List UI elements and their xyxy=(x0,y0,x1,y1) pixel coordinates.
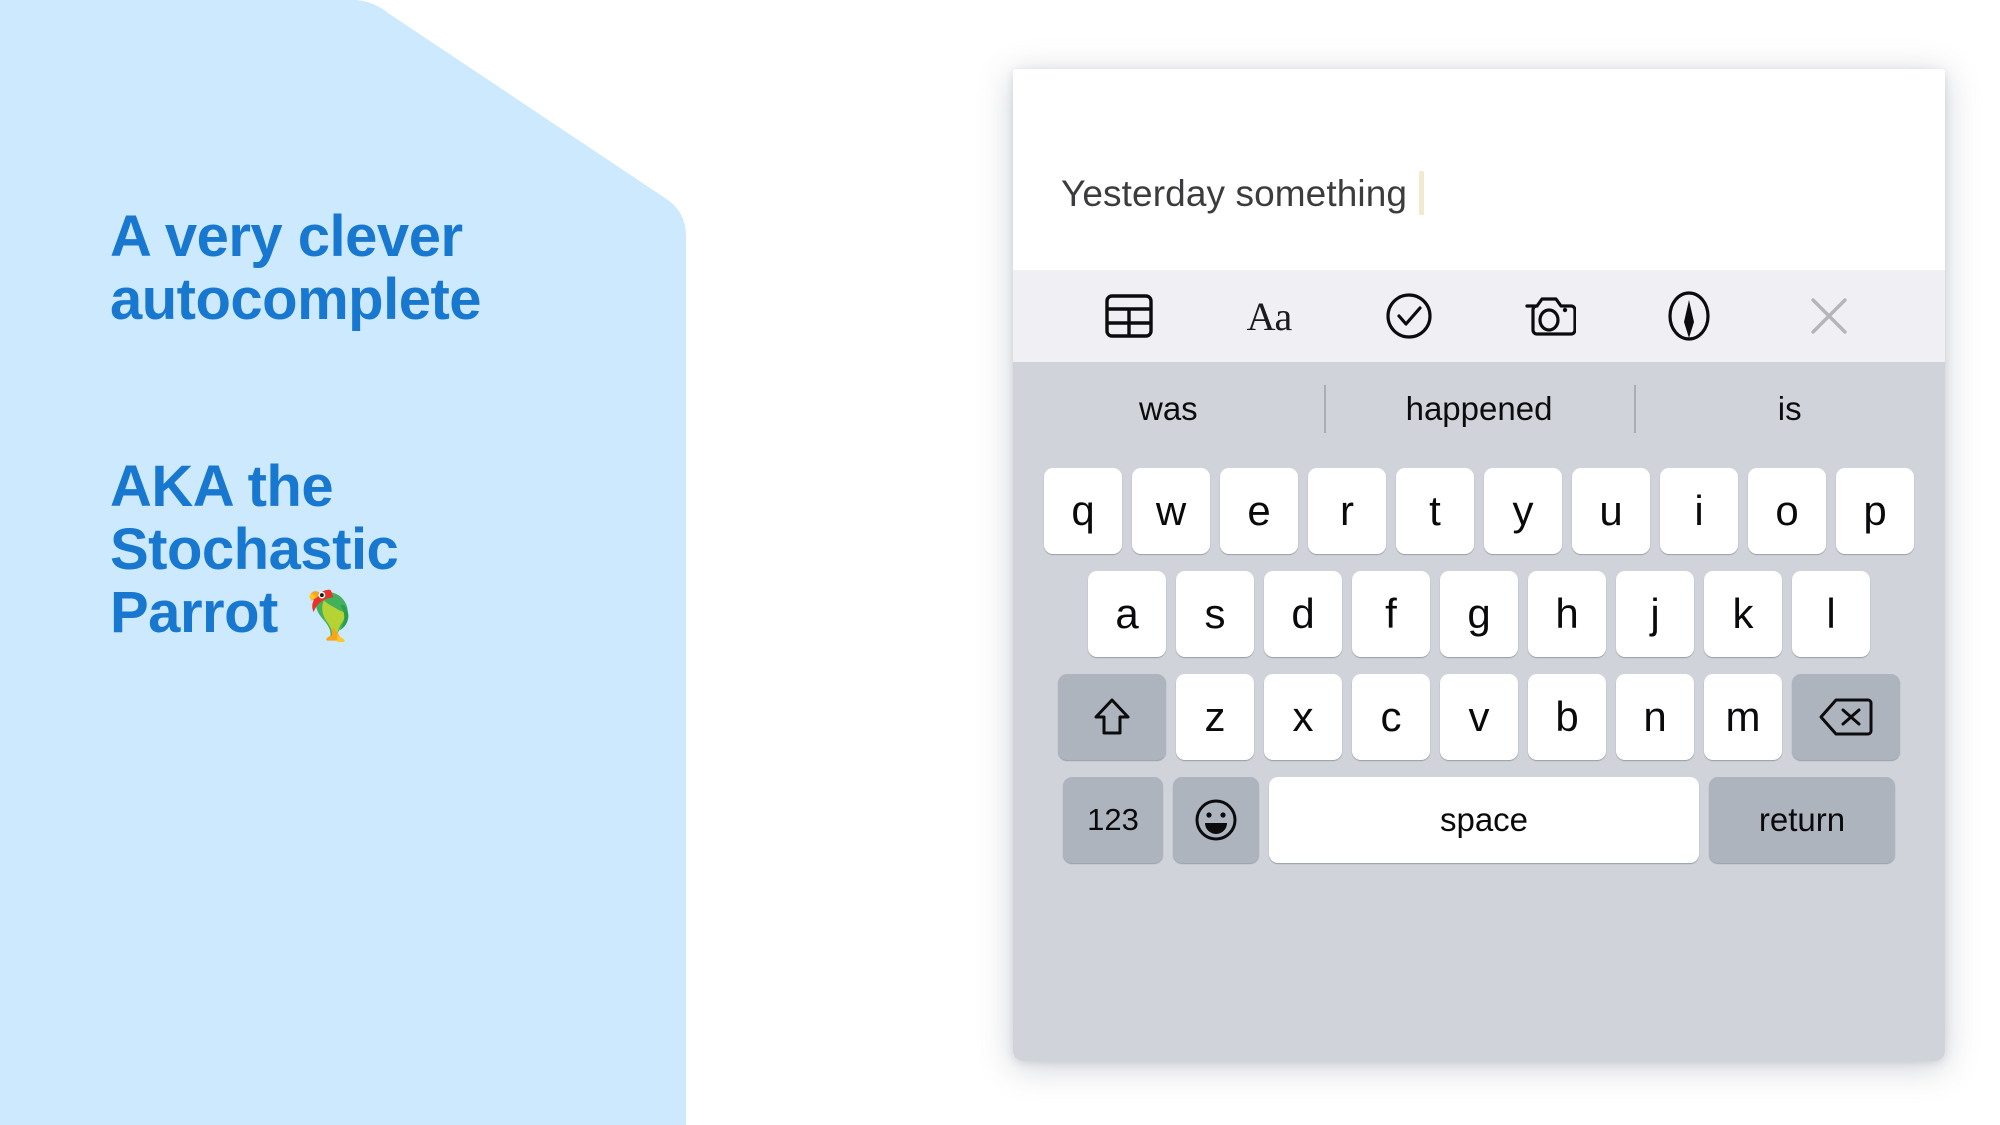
key-n[interactable]: n xyxy=(1616,674,1694,760)
key-return[interactable]: return xyxy=(1709,777,1895,863)
key-v[interactable]: v xyxy=(1440,674,1518,760)
key-t[interactable]: t xyxy=(1396,468,1474,554)
key-o[interactable]: o xyxy=(1748,468,1826,554)
suggestion-item-1[interactable]: was xyxy=(1013,390,1324,428)
key-z[interactable]: z xyxy=(1176,674,1254,760)
suggestion-item-3[interactable]: is xyxy=(1634,390,1945,428)
key-w[interactable]: w xyxy=(1132,468,1210,554)
text-format-icon[interactable]: Aa xyxy=(1238,285,1300,347)
key-u[interactable]: u xyxy=(1572,468,1650,554)
key-p[interactable]: p xyxy=(1836,468,1914,554)
key-d[interactable]: d xyxy=(1264,571,1342,657)
key-y[interactable]: y xyxy=(1484,468,1562,554)
headline-primary: A very clever autocomplete xyxy=(110,205,630,331)
note-app-card: Yesterday something Aa xyxy=(1013,69,1945,1061)
key-m[interactable]: m xyxy=(1704,674,1782,760)
text-cursor xyxy=(1419,171,1424,215)
headline-secondary: AKA the Stochastic Parrot xyxy=(110,455,530,645)
key-r[interactable]: r xyxy=(1308,468,1386,554)
key-j[interactable]: j xyxy=(1616,571,1694,657)
autocomplete-suggestion-bar: was happened is xyxy=(1013,362,1945,456)
key-h[interactable]: h xyxy=(1528,571,1606,657)
markup-pen-icon[interactable] xyxy=(1658,285,1720,347)
on-screen-keyboard: q w e r t y u i o p a s d f g h j k l xyxy=(1013,456,1945,1061)
camera-icon[interactable] xyxy=(1518,285,1580,347)
note-text-line: Yesterday something xyxy=(1061,171,1424,215)
note-toolbar: Aa xyxy=(1013,270,1945,362)
note-text-value: Yesterday something xyxy=(1061,173,1407,214)
key-g[interactable]: g xyxy=(1440,571,1518,657)
parrot-emoji xyxy=(288,582,350,644)
note-text-area[interactable]: Yesterday something xyxy=(1013,69,1945,270)
key-k[interactable]: k xyxy=(1704,571,1782,657)
keyboard-row-4: 123 space return xyxy=(1013,777,1945,863)
keyboard-row-2: a s d f g h j k l xyxy=(1013,571,1945,657)
keyboard-row-1: q w e r t y u i o p xyxy=(1013,468,1945,554)
key-a[interactable]: a xyxy=(1088,571,1166,657)
close-icon[interactable] xyxy=(1798,285,1860,347)
key-i[interactable]: i xyxy=(1660,468,1738,554)
left-promo-panel: A very clever autocomplete AKA the Stoch… xyxy=(0,0,700,1125)
headline-secondary-text: AKA the Stochastic Parrot xyxy=(110,454,398,645)
backspace-icon[interactable] xyxy=(1792,674,1900,760)
key-space[interactable]: space xyxy=(1269,777,1699,863)
key-q[interactable]: q xyxy=(1044,468,1122,554)
suggestion-item-2[interactable]: happened xyxy=(1324,390,1635,428)
key-x[interactable]: x xyxy=(1264,674,1342,760)
key-s[interactable]: s xyxy=(1176,571,1254,657)
key-f[interactable]: f xyxy=(1352,571,1430,657)
key-e[interactable]: e xyxy=(1220,468,1298,554)
checklist-icon[interactable] xyxy=(1378,285,1440,347)
emoji-smiley-icon[interactable] xyxy=(1173,777,1259,863)
key-b[interactable]: b xyxy=(1528,674,1606,760)
key-numbers[interactable]: 123 xyxy=(1063,777,1163,863)
table-icon[interactable] xyxy=(1098,285,1160,347)
headline-secondary-wrap: AKA the Stochastic Parrot xyxy=(110,455,530,645)
key-l[interactable]: l xyxy=(1792,571,1870,657)
key-c[interactable]: c xyxy=(1352,674,1430,760)
text-format-label: Aa xyxy=(1247,293,1292,340)
keyboard-row-3: z x c v b n m xyxy=(1013,674,1945,760)
headline-primary-wrap: A very clever autocomplete xyxy=(110,205,630,331)
shift-icon[interactable] xyxy=(1058,674,1166,760)
